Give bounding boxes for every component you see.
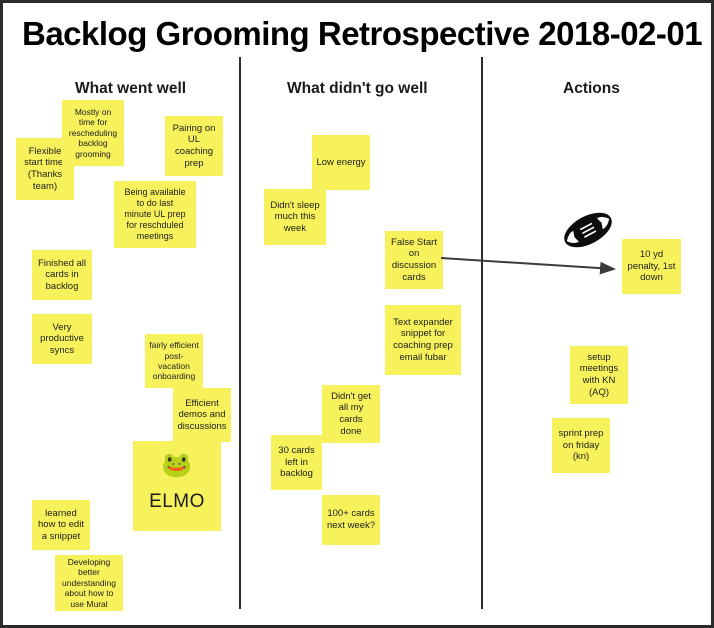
column-header-what-didnt-go-well: What didn't go well <box>287 80 428 98</box>
sticky-note[interactable]: False Start on discussion cards <box>385 231 443 289</box>
column-divider-1 <box>239 57 241 609</box>
sticky-note[interactable]: Didn't get all my cards done <box>322 385 380 443</box>
sticky-note[interactable]: Efficient demos and discussions <box>173 388 231 442</box>
sticky-note[interactable]: Finished all cards in backlog <box>32 250 92 300</box>
football-icon <box>559 207 617 253</box>
sticky-note[interactable]: fairly efficient post-vacation onboardin… <box>145 334 203 388</box>
elmo-label: ELMO <box>149 490 205 513</box>
sticky-note[interactable]: Text expander snippet for coaching prep … <box>385 305 461 375</box>
sticky-note-elmo[interactable]: 🐸 ELMO <box>133 441 221 531</box>
page-title: Backlog Grooming Retrospective 2018-02-0… <box>22 15 702 53</box>
column-header-actions: Actions <box>563 80 620 98</box>
sticky-note[interactable]: 30 cards left in backlog <box>271 435 322 490</box>
sticky-note[interactable]: Developing better understanding about ho… <box>55 555 123 611</box>
sticky-note[interactable]: Very productive syncs <box>32 314 92 364</box>
frog-face-icon: 🐸 <box>161 453 192 478</box>
sticky-note[interactable]: Pairing on UL coaching prep <box>165 116 223 176</box>
sticky-note[interactable]: learned how to edit a snippet <box>32 500 90 550</box>
sticky-note[interactable]: setup meetings with KN (AQ) <box>570 346 628 404</box>
sticky-note[interactable]: sprint prep on friday (kn) <box>552 418 610 473</box>
sticky-note[interactable]: Low energy <box>312 135 370 190</box>
sticky-note[interactable]: Mostly on time for rescheduling backlog … <box>62 100 124 166</box>
column-header-what-went-well: What went well <box>75 80 186 98</box>
retro-board: Backlog Grooming Retrospective 2018-02-0… <box>0 0 714 628</box>
sticky-note[interactable]: Being available to do last minute UL pre… <box>114 181 196 248</box>
sticky-note[interactable]: 10 yd penalty, 1st down <box>622 239 681 294</box>
sticky-note[interactable]: Didn't sleep much this week <box>264 189 326 245</box>
column-divider-2 <box>481 57 483 609</box>
sticky-note[interactable]: 100+ cards next week? <box>322 495 380 545</box>
board-canvas: Backlog Grooming Retrospective 2018-02-0… <box>3 3 711 625</box>
